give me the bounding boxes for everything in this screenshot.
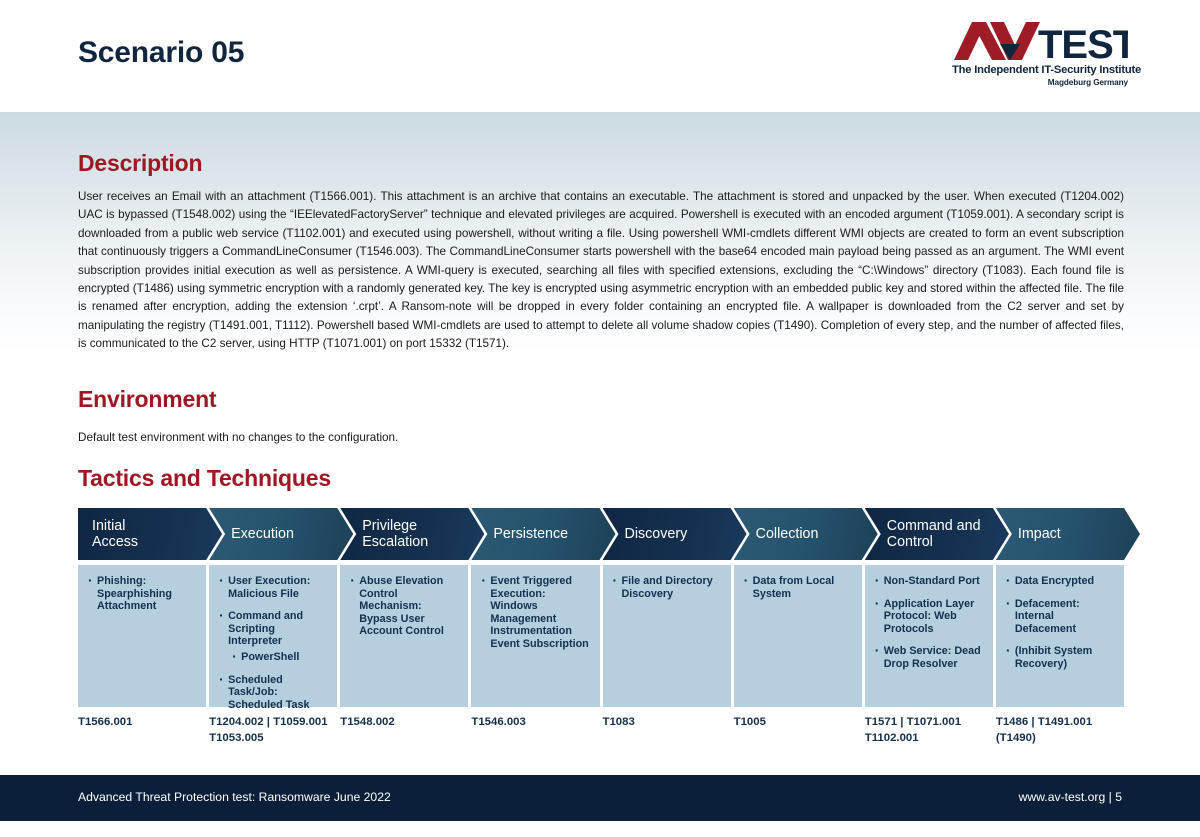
logo-tagline: The Independent IT-Security Institute [952,64,1128,76]
technique-item: Scheduled Task/Job: Scheduled Task [217,674,329,712]
technique-item: Application Layer Protocol: Web Protocol… [873,598,985,636]
technique-cell-6: Data from Local System [734,565,862,707]
technique-item: Data from Local System [742,575,854,600]
technique-item: User Execution: Malicious File [217,575,329,600]
technique-item: Web Service: Dead Drop Resolver [873,645,985,670]
page-title: Scenario 05 [78,36,244,70]
technique-ids-8: T1486 | T1491.001 (T1490) [996,715,1148,746]
technique-ids-7: T1571 | T1071.001 T1102.001 [865,715,1017,746]
tactic-header-1: Initial Access [78,508,222,560]
technique-item: PowerShell [217,651,329,664]
tactic-header-4: Persistence [471,508,615,560]
technique-list: Phishing: Spearphishing Attachment [86,575,198,613]
technique-list: Event Triggered Execution: Windows Manag… [479,575,591,651]
technique-ids-4: T1546.003 [471,715,623,731]
tactic-header-5: Discovery [603,508,747,560]
tactic-header-3: Privilege Escalation [340,508,484,560]
logo-city: Magdeburg Germany [952,78,1128,87]
technique-item: Defacement: Internal Defacement [1004,598,1116,636]
tactics-heading: Tactics and Techniques [78,465,331,492]
technique-list: Abuse Elevation Control Mechanism: Bypas… [348,575,460,638]
tactic-header-row: Initial AccessExecutionPrivilege Escalat… [78,508,1124,560]
footer-url-page: www.av-test.org | 5 [1019,790,1122,804]
tactic-header-6: Collection [734,508,878,560]
technique-cell-5: File and Directory Discovery [603,565,731,707]
environment-text: Default test environment with no changes… [78,429,1124,447]
technique-cell-1: Phishing: Spearphishing Attachment [78,565,206,707]
technique-list: Data EncryptedDefacement: Internal Defac… [1004,575,1116,671]
technique-ids-2: T1204.002 | T1059.001 T1053.005 [209,715,361,746]
technique-ids-3: T1548.002 [340,715,492,731]
tactics-and-techniques-chart: Initial AccessExecutionPrivilege Escalat… [78,508,1124,765]
technique-item: Phishing: Spearphishing Attachment [86,575,198,613]
technique-list: User Execution: Malicious FileCommand an… [217,575,329,711]
technique-cell-2: User Execution: Malicious FileCommand an… [209,565,337,707]
technique-item: Event Triggered Execution: Windows Manag… [479,575,591,651]
logo-mark: TEST [952,20,1128,62]
technique-cell-3: Abuse Elevation Control Mechanism: Bypas… [340,565,468,707]
tactic-header-2: Execution [209,508,353,560]
footer-test-name: Advanced Threat Protection test: Ransomw… [78,790,391,804]
technique-item: Command and Scripting Interpreter [217,610,329,648]
technique-list: Non-Standard PortApplication Layer Proto… [873,575,985,671]
document-page: Scenario 05 TEST The Independent IT-Secu… [0,0,1200,837]
technique-item: (Inhibit System Recovery) [1004,645,1116,670]
technique-item: File and Directory Discovery [611,575,723,600]
technique-ids-6: T1005 [734,715,886,731]
av-test-logo: TEST The Independent IT-Security Institu… [952,20,1128,92]
technique-cell-4: Event Triggered Execution: Windows Manag… [471,565,599,707]
page-footer: Advanced Threat Protection test: Ransomw… [0,775,1200,821]
logo-wordmark-icon: TEST [952,20,1128,62]
description-heading: Description [78,150,202,177]
technique-item: Abuse Elevation Control Mechanism: Bypas… [348,575,460,638]
technique-cells-row: Phishing: Spearphishing AttachmentUser E… [78,565,1124,707]
technique-ids-1: T1566.001 [78,715,230,731]
technique-cell-7: Non-Standard PortApplication Layer Proto… [865,565,993,707]
technique-item: Data Encrypted [1004,575,1116,588]
technique-ids-5: T1083 [603,715,755,731]
description-text: User receives an Email with an attachmen… [78,188,1124,354]
technique-list: File and Directory Discovery [611,575,723,600]
svg-text:TEST: TEST [1038,23,1128,62]
page-header: Scenario 05 TEST The Independent IT-Secu… [0,0,1200,112]
technique-item: Non-Standard Port [873,575,985,588]
environment-heading: Environment [78,386,216,413]
tactic-header-8: Impact [996,508,1140,560]
technique-list: Data from Local System [742,575,854,600]
technique-ids-row: T1566.001T1204.002 | T1059.001 T1053.005… [78,715,1124,765]
technique-cell-8: Data EncryptedDefacement: Internal Defac… [996,565,1124,707]
tactic-header-7: Command and Control [865,508,1009,560]
